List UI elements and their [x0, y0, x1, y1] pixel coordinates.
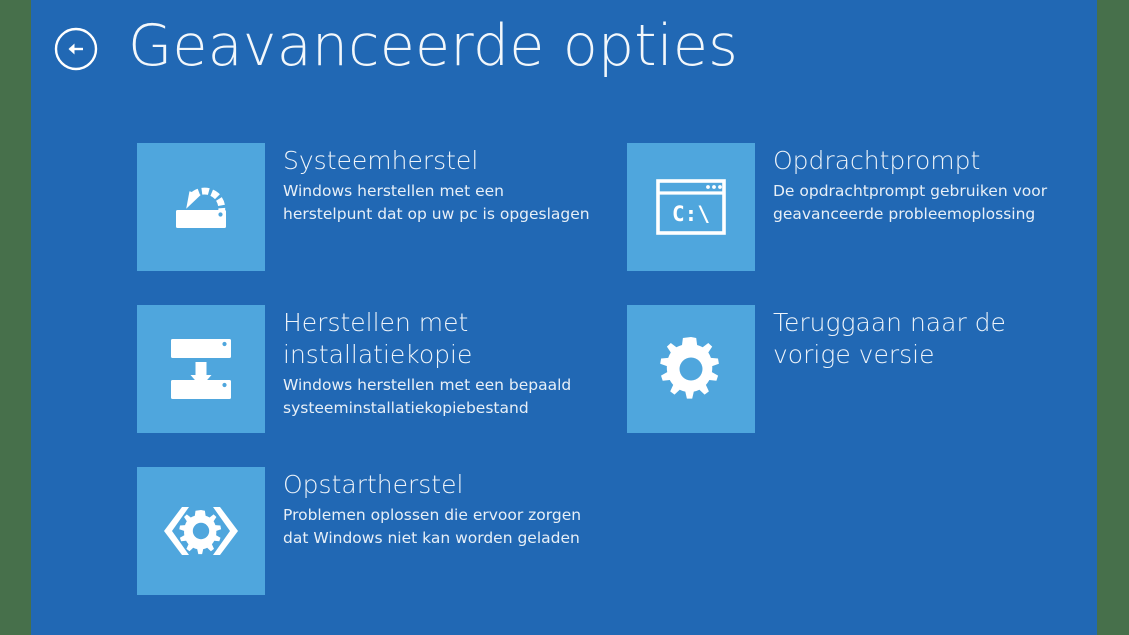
option-text: Opstartherstel Problemen oplossen die er…	[283, 467, 581, 550]
recovery-panel: Geavanceerde opties	[31, 0, 1097, 635]
option-title: Opstartherstel	[283, 469, 581, 501]
option-go-back-previous-version[interactable]: Teruggaan naar de vorige versie	[627, 305, 1087, 433]
option-desc-line2: geavanceerde probleemoplossing	[773, 203, 1047, 226]
startup-repair-icon	[158, 502, 244, 560]
option-desc-line1: Windows herstellen met een bepaald	[283, 374, 613, 397]
option-desc-line2: dat Windows niet kan worden geladen	[283, 527, 581, 550]
option-title: Teruggaan naar de vorige versie	[773, 307, 1073, 371]
system-restore-tile[interactable]	[137, 143, 265, 271]
option-desc-line2: systeeminstallatiekopiebestand	[283, 397, 613, 420]
header: Geavanceerde opties	[31, 0, 1097, 115]
option-startup-repair[interactable]: Opstartherstel Problemen oplossen die er…	[137, 467, 617, 595]
option-text: Teruggaan naar de vorige versie	[773, 305, 1073, 374]
startup-repair-tile[interactable]	[137, 467, 265, 595]
option-system-restore[interactable]: Systeemherstel Windows herstellen met ee…	[137, 143, 617, 271]
option-text: Herstellen met installatiekopie Windows …	[283, 305, 613, 420]
page-title: Geavanceerde opties	[128, 13, 738, 79]
back-arrow-circle-icon	[53, 26, 99, 72]
back-button[interactable]	[53, 26, 99, 72]
options-row-2: Herstellen met installatiekopie Windows …	[31, 305, 1097, 467]
system-image-recovery-tile[interactable]	[137, 305, 265, 433]
svg-text:C:\: C:\	[672, 202, 710, 226]
options-grid: Systeemherstel Windows herstellen met ee…	[31, 143, 1097, 629]
system-image-recovery-icon	[165, 334, 237, 404]
option-title: Opdrachtprompt	[773, 145, 1047, 177]
command-prompt-tile[interactable]: C:\	[627, 143, 755, 271]
option-title: Systeemherstel	[283, 145, 590, 177]
option-text: Opdrachtprompt De opdrachtprompt gebruik…	[773, 143, 1047, 226]
option-desc-line1: Windows herstellen met een	[283, 180, 590, 203]
option-desc-line1: De opdrachtprompt gebruiken voor	[773, 180, 1047, 203]
recovery-screen: Geavanceerde opties	[0, 0, 1129, 635]
options-row-3: Opstartherstel Problemen oplossen die er…	[31, 467, 1097, 629]
option-desc-line2: herstelpunt dat op uw pc is opgeslagen	[283, 203, 590, 226]
gear-icon	[655, 333, 727, 405]
option-system-image-recovery[interactable]: Herstellen met installatiekopie Windows …	[137, 305, 617, 433]
option-desc-line1: Problemen oplossen die ervoor zorgen	[283, 504, 581, 527]
system-restore-icon	[162, 172, 240, 242]
command-prompt-icon: C:\	[654, 175, 728, 239]
options-row-1: Systeemherstel Windows herstellen met ee…	[31, 143, 1097, 305]
option-text: Systeemherstel Windows herstellen met ee…	[283, 143, 590, 226]
option-title: Herstellen met installatiekopie	[283, 307, 613, 371]
go-back-previous-version-tile[interactable]	[627, 305, 755, 433]
option-command-prompt[interactable]: C:\ Opdrachtprompt De opdrachtprompt geb…	[627, 143, 1087, 271]
